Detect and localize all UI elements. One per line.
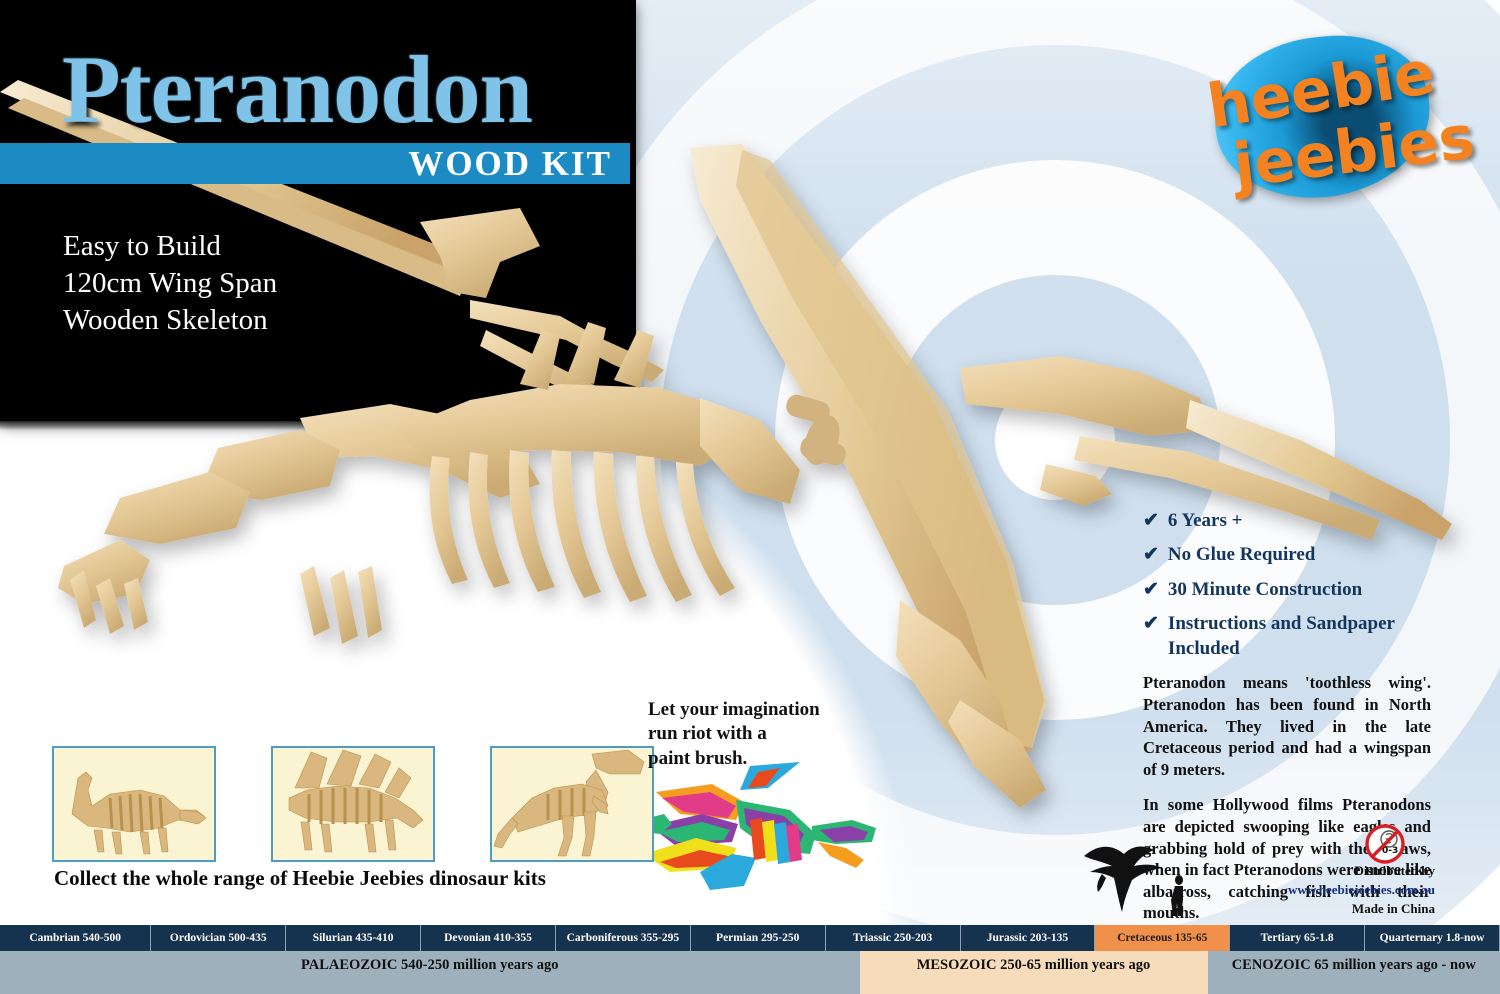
timeline-period-5: Permian 295-250 bbox=[691, 925, 826, 951]
checklist-item-3: ✔ Instructions and Sandpaper Included bbox=[1143, 611, 1431, 662]
paint-caption-line-2: run riot with a bbox=[648, 722, 820, 746]
feature-list: Easy to Build 120cm Wing Span Wooden Ske… bbox=[63, 228, 277, 338]
thumbnail-tyrannosaurus-kit[interactable] bbox=[490, 746, 654, 862]
age-warning-0-3-icon: 0-3 bbox=[1363, 822, 1407, 866]
range-thumbnail-strip bbox=[52, 746, 654, 862]
checklist-label: 30 Minute Construction bbox=[1168, 577, 1362, 602]
thumbnail-stegosaurus-kit[interactable] bbox=[271, 746, 435, 862]
timeline-period-row: Cambrian 540-500Ordovician 500-435Siluri… bbox=[0, 925, 1500, 951]
timeline-period-8: Cretaceous 135-65 bbox=[1095, 925, 1230, 951]
timeline-era-mesozoic: MESOZOIC 250-65 million years ago bbox=[860, 951, 1208, 994]
checklist-item-2: ✔ 30 Minute Construction bbox=[1143, 577, 1431, 602]
timeline-period-6: Triassic 250-203 bbox=[826, 925, 961, 951]
stegosaurus-skeleton-icon bbox=[273, 748, 433, 860]
checklist-label: 6 Years + bbox=[1168, 508, 1243, 533]
website-url[interactable]: www.heebiejeebies.com.au bbox=[1230, 881, 1435, 900]
timeline-era-palaeozoic: PALAEOZOIC 540-250 million years ago bbox=[0, 951, 860, 994]
timeline-period-9: Tertiary 65-1.8 bbox=[1230, 925, 1365, 951]
timeline-era-row: PALAEOZOIC 540-250 million years agoMESO… bbox=[0, 951, 1500, 994]
age-warning-label: 0-3 bbox=[1382, 846, 1398, 856]
range-caption: Collect the whole range of Heebie Jeebie… bbox=[54, 866, 546, 891]
tyrannosaurus-skeleton-icon bbox=[492, 748, 652, 860]
thumbnail-brachiosaurus-kit[interactable] bbox=[52, 746, 216, 862]
paint-caption-line-3: paint brush. bbox=[648, 747, 820, 771]
timeline-era-cenozoic: CENOZOIC 65 million years ago - now bbox=[1208, 951, 1500, 994]
heebie-jeebies-logo: heebie jeebies bbox=[1195, 25, 1470, 210]
feature-item-0: Easy to Build bbox=[63, 228, 277, 265]
timeline-period-1: Ordovician 500-435 bbox=[151, 925, 286, 951]
checklist-item-1: ✔ No Glue Required bbox=[1143, 542, 1431, 567]
checklist-label: Instructions and Sandpaper Included bbox=[1168, 611, 1431, 662]
timeline-period-2: Silurian 435-410 bbox=[286, 925, 421, 951]
pteranodon-scale-silhouette-icon bbox=[1078, 838, 1198, 916]
paint-caption-line-1: Let your imagination bbox=[648, 698, 820, 722]
geological-timeline: Cambrian 540-500Ordovician 500-435Siluri… bbox=[0, 925, 1500, 994]
check-icon: ✔ bbox=[1143, 577, 1159, 602]
timeline-period-0: Cambrian 540-500 bbox=[0, 925, 151, 951]
paint-caption: Let your imagination run riot with a pai… bbox=[648, 698, 820, 771]
check-icon: ✔ bbox=[1143, 611, 1159, 662]
product-packaging-artwork: Pteranodon WOOD KIT Easy to Build 120cm … bbox=[0, 0, 1500, 994]
checklist-label: No Glue Required bbox=[1168, 542, 1315, 567]
timeline-period-7: Jurassic 203-135 bbox=[961, 925, 1096, 951]
brachiosaurus-skeleton-icon bbox=[54, 748, 214, 860]
logo-wordmark: heebie jeebies bbox=[1195, 25, 1470, 210]
distribution-info: Distributed by www.heebiejeebies.com.au … bbox=[1230, 862, 1435, 919]
distributed-by-label: Distributed by bbox=[1230, 862, 1435, 881]
made-in-label: Made in China bbox=[1230, 900, 1435, 919]
timeline-period-3: Devonian 410-355 bbox=[421, 925, 556, 951]
check-icon: ✔ bbox=[1143, 542, 1159, 567]
description-paragraph-1: Pteranodon means 'toothless wing'. Ptera… bbox=[1143, 672, 1431, 780]
feature-item-1: 120cm Wing Span bbox=[63, 265, 277, 302]
check-icon: ✔ bbox=[1143, 508, 1159, 533]
product-subtitle: WOOD KIT bbox=[0, 143, 612, 184]
page-title: Pteranodon bbox=[62, 42, 532, 138]
painted-pteranodon-model bbox=[640, 762, 880, 894]
timeline-period-4: Carboniferous 355-295 bbox=[556, 925, 691, 951]
timeline-period-10: Quarternary 1.8-now bbox=[1365, 925, 1500, 951]
checklist-item-0: ✔ 6 Years + bbox=[1143, 508, 1431, 533]
feature-item-2: Wooden Skeleton bbox=[63, 302, 277, 339]
